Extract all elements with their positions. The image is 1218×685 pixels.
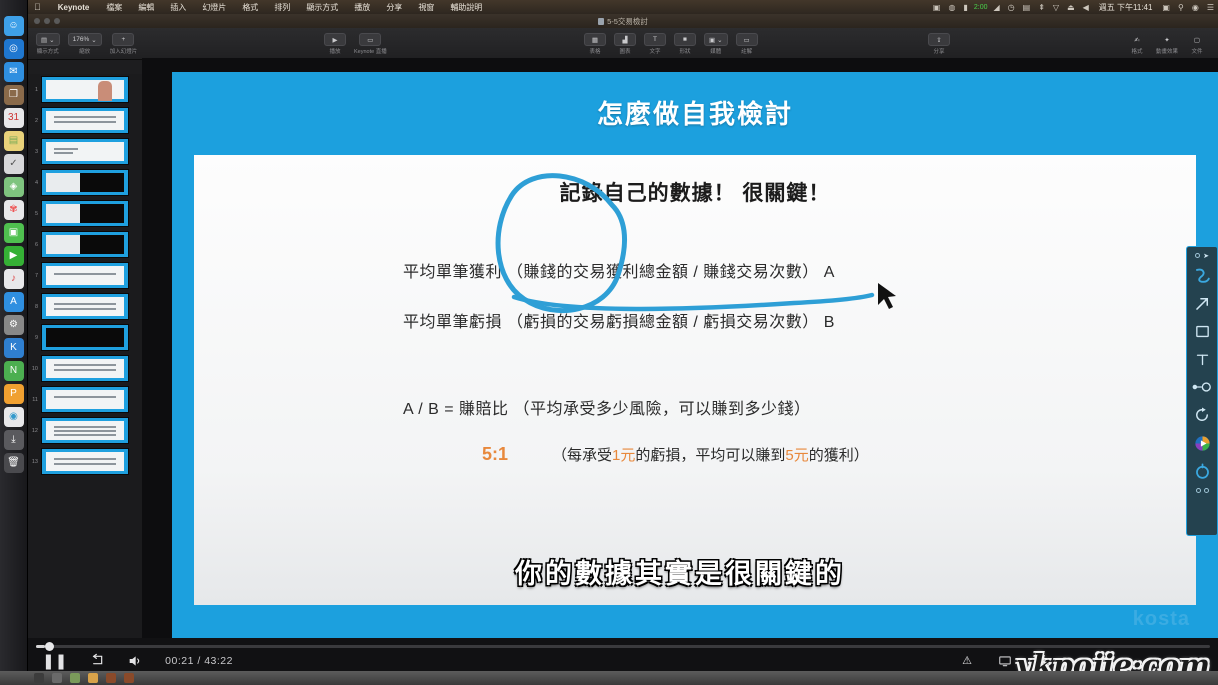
- animate-inspector-button[interactable]: ✦ 動畫效果: [1156, 33, 1178, 55]
- slide-number: 10: [31, 366, 38, 372]
- menu-item-play[interactable]: 播放: [346, 2, 378, 13]
- cursor-small-icon[interactable]: ➤: [1203, 252, 1209, 260]
- insert-table-label: 表格: [589, 47, 600, 55]
- screen-icon[interactable]: [998, 654, 1012, 668]
- menu-item-edit[interactable]: 編輯: [130, 2, 162, 13]
- volume-icon[interactable]: ◀: [1079, 3, 1093, 12]
- slide-number: 4: [31, 180, 38, 186]
- slide-number: 1: [31, 87, 38, 93]
- view-button[interactable]: ▤⌄ 顯示方式: [36, 33, 60, 55]
- live-icon: ▭: [367, 36, 373, 44]
- chevron-down-icon: ⌄: [717, 36, 722, 44]
- ratio-note: （每承受1元的虧損，平均可以賺到5元的獲利）: [552, 444, 869, 465]
- slide-thumbnail[interactable]: [41, 417, 129, 444]
- player-left-controls[interactable]: ❚❚ 00:21 / 43:22: [42, 653, 233, 669]
- contacts-icon[interactable]: ❐: [4, 85, 24, 105]
- insert-media-button[interactable]: ▣⌄ 媒體: [704, 33, 728, 55]
- menu-item-view[interactable]: 顯示方式: [298, 2, 346, 13]
- window-title: 5-5交易檢討: [598, 16, 648, 27]
- formula-line-a: 平均單筆獲利 （賺錢的交易獲利總金額 / 賺錢交易次數） A: [403, 258, 835, 282]
- window-traffic-lights[interactable]: [34, 18, 60, 24]
- warning-icon[interactable]: ⚠: [962, 656, 972, 667]
- calendar-status-icon[interactable]: ▣: [1158, 3, 1174, 12]
- menu-app-name[interactable]: Keynote: [49, 3, 99, 12]
- list-item[interactable]: 12: [28, 415, 142, 446]
- slide-number: 9: [31, 335, 38, 341]
- record-icon[interactable]: [1190, 458, 1214, 484]
- slide-headline: 記錄自己的數據！ 很關鍵！: [194, 177, 1196, 207]
- view-button-label: 顯示方式: [37, 47, 59, 55]
- slide-number: 7: [31, 273, 38, 279]
- screen: ☺ ◎ ✉ ❐ 31 ▤ ✓ ◈ ✾ ▣ ▶ ♪ A ⚙ K N P ◉ ⤓ 🗑…: [0, 0, 1218, 685]
- chart-icon: ▟: [623, 36, 628, 44]
- page-title: 怎麼做自我檢討: [172, 94, 1218, 131]
- share-button-label: 分享: [933, 47, 944, 55]
- finder-icon[interactable]: ☺: [4, 16, 24, 36]
- menu-bar[interactable]:  Keynote 檔案 編輯 插入 幻燈片 格式 排列 顯示方式 播放 分享 …: [28, 0, 1218, 14]
- time-separator: /: [197, 655, 200, 667]
- ratio-note-suffix: 的獲利）: [809, 447, 869, 464]
- list-item[interactable]: 7: [28, 260, 142, 291]
- calendar-icon[interactable]: 31: [4, 108, 24, 128]
- chrome-icon[interactable]: ◉: [4, 407, 24, 427]
- insert-chart-label: 圖表: [619, 47, 630, 55]
- window-titlebar[interactable]: 5-5交易檢討: [28, 14, 1218, 28]
- dropbox-icon[interactable]: ▣: [929, 3, 945, 12]
- mail-icon[interactable]: ✉: [4, 62, 24, 82]
- progress-knob[interactable]: [45, 642, 54, 651]
- insert-chart-button[interactable]: ▟ 圖表: [614, 33, 636, 55]
- toolbar-share-group[interactable]: ⇪ 分享: [928, 33, 950, 55]
- video-caption: 你的數據其實是很關鍵的: [142, 552, 1218, 591]
- slide-thumbnail[interactable]: [41, 293, 129, 320]
- messages-icon[interactable]: ▣: [4, 223, 24, 243]
- taskbar-media2-icon[interactable]: [124, 673, 134, 683]
- time-machine-icon[interactable]: ◷: [1004, 3, 1019, 12]
- keynote-live-label: Keynote 直播: [354, 47, 387, 55]
- plus-icon: +: [122, 36, 126, 43]
- notes-icon[interactable]: ▤: [4, 131, 24, 151]
- menu-item-insert[interactable]: 插入: [162, 2, 194, 13]
- time-current: 00:21: [165, 655, 194, 667]
- annotation-toolbar[interactable]: ➤: [1186, 246, 1218, 536]
- slide-thumbnail[interactable]: [41, 200, 129, 227]
- taskbar-browser-icon[interactable]: [88, 673, 98, 683]
- toolbar-inspector-group[interactable]: ✍ 格式 ✦ 動畫效果 ▢ 文件: [1126, 33, 1208, 55]
- zoom-button[interactable]: [54, 18, 60, 24]
- annotation-toolbar-header: ➤: [1195, 251, 1209, 260]
- battery-icon[interactable]: ▮: [959, 3, 971, 12]
- slide-number: 12: [31, 428, 38, 434]
- format-icon: ✍: [1134, 36, 1139, 44]
- preferences-icon[interactable]: ⚙: [4, 315, 24, 335]
- slide-number: 6: [31, 242, 38, 248]
- ratio-highlight-one: 1元: [612, 447, 635, 464]
- numbers-icon[interactable]: N: [4, 361, 24, 381]
- list-item[interactable]: 9: [28, 322, 142, 353]
- formula-line-ratio: A / B = 賺賠比 （平均承受多少風險，可以賺到多少錢）: [403, 395, 810, 419]
- record-dot-icon[interactable]: [1195, 253, 1200, 258]
- replay-10-icon[interactable]: [89, 653, 105, 669]
- chevron-down-icon: ⌄: [91, 36, 96, 44]
- insert-text-label: 文字: [649, 47, 660, 55]
- refresh-icon[interactable]: [1190, 402, 1214, 428]
- slide-number: 8: [31, 304, 38, 310]
- shape-icon: ■: [683, 36, 687, 43]
- menu-item-slide[interactable]: 幻燈片: [194, 2, 234, 13]
- taskbar-app-icon[interactable]: [52, 673, 62, 683]
- menu-clock[interactable]: 週五 下午11:41: [1093, 2, 1159, 13]
- table-icon: ▦: [592, 36, 598, 44]
- slide-thumbnail[interactable]: [41, 76, 129, 103]
- shield-icon[interactable]: ▽: [1049, 3, 1063, 12]
- taskbar-folder-icon[interactable]: [70, 673, 80, 683]
- menu-item-format[interactable]: 格式: [234, 2, 266, 13]
- keynote-live-button[interactable]: ▭ Keynote 直播: [354, 33, 387, 55]
- list-item[interactable]: 4: [28, 167, 142, 198]
- apple-logo-icon[interactable]: : [28, 2, 49, 12]
- list-item[interactable]: 5: [28, 198, 142, 229]
- time-total: 43:22: [204, 655, 233, 667]
- slide-number: 2: [31, 118, 38, 124]
- insert-media-label: 媒體: [710, 47, 721, 55]
- insert-text-button[interactable]: T 文字: [644, 33, 666, 55]
- slide-thumbnail[interactable]: [41, 262, 129, 289]
- taskbar-finder-icon[interactable]: [34, 673, 44, 683]
- slide-thumbnail[interactable]: [41, 386, 129, 413]
- animate-inspector-label: 動畫效果: [1156, 47, 1178, 55]
- insert-shape-label: 形狀: [679, 47, 690, 55]
- window-title-text: 5-5交易檢討: [607, 16, 648, 27]
- taskbar-media-icon[interactable]: [106, 673, 116, 683]
- list-item[interactable]: 13: [28, 446, 142, 477]
- toolbar-center-group[interactable]: ▶ 播放 ▭ Keynote 直播: [324, 33, 387, 55]
- photos-icon[interactable]: ✾: [4, 200, 24, 220]
- document-inspector-button[interactable]: ▢ 文件: [1186, 33, 1208, 55]
- menu-item-window[interactable]: 視窗: [410, 2, 442, 13]
- zoom-button-label: 縮放: [79, 47, 90, 55]
- list-item[interactable]: 1: [28, 74, 142, 105]
- slide-number: 11: [31, 397, 38, 403]
- itunes-icon[interactable]: ♪: [4, 269, 24, 289]
- chevron-down-icon: ⌄: [49, 36, 54, 44]
- share-button[interactable]: ⇪ 分享: [928, 33, 950, 55]
- document-inspector-label: 文件: [1191, 47, 1202, 55]
- play-icon: ▶: [333, 36, 338, 44]
- bluetooth-icon[interactable]: ⇞: [1034, 3, 1049, 12]
- list-item[interactable]: 3: [28, 136, 142, 167]
- text-tool-icon[interactable]: [1190, 346, 1214, 372]
- battery-time-label: 2:00: [972, 4, 990, 11]
- media-icon: ▣: [709, 36, 715, 44]
- safari-icon[interactable]: ◎: [4, 39, 24, 59]
- slide-number: 5: [31, 211, 38, 217]
- animate-icon: ✦: [1164, 36, 1169, 44]
- list-item[interactable]: 6: [28, 229, 142, 260]
- spotlight-search-icon[interactable]: ⚲: [1174, 3, 1188, 12]
- close-dot-icon[interactable]: [1204, 488, 1209, 493]
- color-wheel-icon[interactable]: [1190, 430, 1214, 456]
- slide-thumbnail[interactable]: [41, 138, 129, 165]
- pages-icon[interactable]: P: [4, 384, 24, 404]
- slide-thumbnail[interactable]: [41, 169, 129, 196]
- slide-thumbnail[interactable]: [41, 231, 129, 258]
- slide-number: 13: [31, 459, 38, 465]
- ratio-row: 5:1 （每承受1元的虧損，平均可以賺到5元的獲利）: [482, 444, 869, 465]
- list-item[interactable]: 8: [28, 291, 142, 322]
- facetime-icon[interactable]: ▶: [4, 246, 24, 266]
- slide-thumbnail[interactable]: [41, 107, 129, 134]
- zoom-value: 176%: [73, 36, 90, 43]
- compass-icon[interactable]: ◍: [944, 3, 959, 12]
- list-item[interactable]: 10: [28, 353, 142, 384]
- list-item[interactable]: 11: [28, 384, 142, 415]
- ratio-highlight-five: 5元: [785, 447, 808, 464]
- share-icon: ⇪: [936, 36, 941, 44]
- volume-icon[interactable]: [127, 653, 143, 669]
- insert-comment-label: 註解: [741, 47, 752, 55]
- text-icon: T: [653, 36, 657, 43]
- slide-canvas[interactable]: 怎麼做自我檢討 記錄自己的數據！ 很關鍵！ 平均單筆獲利 （賺錢的交易獲利總金額…: [142, 58, 1218, 639]
- insert-comment-button[interactable]: ▭ 註解: [736, 33, 758, 55]
- close-button[interactable]: [34, 18, 40, 24]
- progress-fill: [36, 645, 45, 648]
- slide-content-card: 記錄自己的數據！ 很關鍵！ 平均單筆獲利 （賺錢的交易獲利總金額 / 賺錢交易次…: [194, 155, 1196, 605]
- keynote-window: 5-5交易檢討 ▤⌄ 顯示方式 176%⌄ 縮放 + 加入幻燈片: [28, 14, 1218, 685]
- ratio-note-prefix: （每承受: [552, 447, 612, 464]
- slide-thumbnail[interactable]: [41, 324, 129, 351]
- ratio-value: 5:1: [482, 444, 508, 465]
- ratio-note-mid: 的虧損，平均可以賺到: [635, 447, 785, 464]
- comment-icon: ▭: [744, 36, 750, 44]
- player-right-controls[interactable]: ⚠: [962, 654, 1012, 668]
- format-inspector-label: 格式: [1131, 47, 1142, 55]
- keynote-toolbar[interactable]: ▤⌄ 顯示方式 176%⌄ 縮放 + 加入幻燈片 ▶ 播放 ▭: [28, 28, 1218, 60]
- globe-icon[interactable]: ◉: [1188, 3, 1203, 12]
- list-item[interactable]: 2: [28, 105, 142, 136]
- notification-center-icon[interactable]: ☰: [1203, 3, 1218, 12]
- keynote-icon[interactable]: K: [4, 338, 24, 358]
- player-time: 00:21 / 43:22: [165, 655, 233, 667]
- document-icon: [598, 18, 604, 25]
- arrow-icon[interactable]: [1190, 290, 1214, 316]
- toolbar-left-group[interactable]: ▤⌄ 顯示方式 176%⌄ 縮放 + 加入幻燈片: [36, 33, 137, 55]
- blue-ink-annotation: [194, 155, 1196, 605]
- menu-item-arrange[interactable]: 排列: [266, 2, 298, 13]
- rectangle-icon[interactable]: [1190, 318, 1214, 344]
- formula-line-b: 平均單筆虧損 （虧損的交易虧損總金額 / 虧損交易次數） B: [403, 308, 835, 332]
- pause-icon[interactable]: ❚❚: [42, 654, 67, 669]
- document-inspector-icon: ▢: [1194, 36, 1200, 44]
- squiggle-pen-icon[interactable]: [1190, 262, 1214, 288]
- view-icon: ▤: [41, 36, 47, 44]
- maps-icon[interactable]: ◈: [4, 177, 24, 197]
- reminders-icon[interactable]: ✓: [4, 154, 24, 174]
- appstore-icon[interactable]: A: [4, 292, 24, 312]
- eject-icon[interactable]: ⏏: [1063, 3, 1079, 12]
- slide-navigator[interactable]: 1 2 3 4 5 6 7: [28, 74, 142, 639]
- slide-thumbnail[interactable]: [41, 448, 129, 475]
- trash-icon[interactable]: 🗑: [4, 453, 24, 473]
- downloads-icon[interactable]: ⤓: [4, 430, 24, 450]
- insert-shape-button[interactable]: ■ 形狀: [674, 33, 696, 55]
- taskbar[interactable]: [0, 671, 1218, 685]
- cursor-pointer-icon: [194, 155, 1196, 605]
- brand-logo: kosta: [1133, 608, 1190, 631]
- menu-item-file[interactable]: 檔案: [98, 2, 130, 13]
- slide-thumbnail[interactable]: [41, 355, 129, 382]
- annotation-toolbar-footer: [1196, 486, 1209, 495]
- settings-dot-icon[interactable]: [1196, 488, 1201, 493]
- insert-table-button[interactable]: ▦ 表格: [584, 33, 606, 55]
- add-slide-button[interactable]: + 加入幻燈片: [110, 33, 138, 55]
- play-button[interactable]: ▶ 播放: [324, 33, 346, 55]
- zoom-button-toolbar[interactable]: 176%⌄ 縮放: [68, 33, 102, 55]
- play-button-label: 播放: [329, 47, 340, 55]
- minimize-button[interactable]: [44, 18, 50, 24]
- format-inspector-button[interactable]: ✍ 格式: [1126, 33, 1148, 55]
- add-slide-label: 加入幻燈片: [110, 47, 138, 55]
- slide-number: 3: [31, 149, 38, 155]
- toolbar-insert-group[interactable]: ▦ 表格 ▟ 圖表 T 文字 ■ 形狀 ▣⌄ 媒體: [584, 33, 758, 55]
- menu-item-help[interactable]: 輔助說明: [442, 2, 490, 13]
- menu-item-share[interactable]: 分享: [378, 2, 410, 13]
- macos-dock[interactable]: ☺ ◎ ✉ ❐ 31 ▤ ✓ ◈ ✾ ▣ ▶ ♪ A ⚙ K N P ◉ ⤓ 🗑: [0, 0, 28, 685]
- display-icon[interactable]: ▤: [1019, 3, 1035, 12]
- wifi-icon[interactable]: ◢: [989, 3, 1003, 12]
- spotlight-icon[interactable]: [1190, 374, 1214, 400]
